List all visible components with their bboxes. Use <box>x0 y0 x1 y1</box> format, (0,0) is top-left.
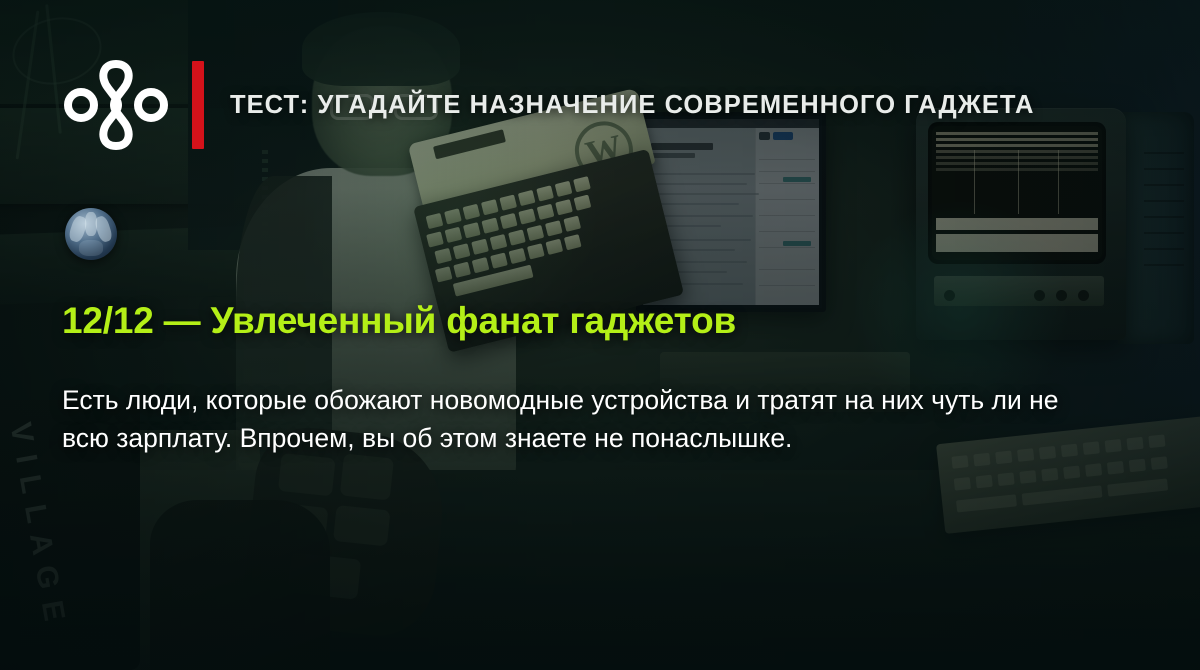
quiz-result-card: W <box>0 0 1200 670</box>
page-title: 12/12 — Увлеченный фанат гаджетов <box>62 301 1140 342</box>
red-divider <box>192 61 204 149</box>
brand-header: ТЕСТ: УГАДАЙТЕ НАЗНАЧЕНИЕ СОВРЕМЕННОГО Г… <box>64 58 1034 152</box>
olo-logo-icon[interactable] <box>64 58 168 152</box>
avatar[interactable] <box>65 208 117 260</box>
result-description: Есть люди, которые обожают новомодные ус… <box>62 381 1102 457</box>
content-overlay: ТЕСТ: УГАДАЙТЕ НАЗНАЧЕНИЕ СОВРЕМЕННОГО Г… <box>0 0 1200 670</box>
kicker-title: ТЕСТ: УГАДАЙТЕ НАЗНАЧЕНИЕ СОВРЕМЕННОГО Г… <box>230 91 1034 119</box>
